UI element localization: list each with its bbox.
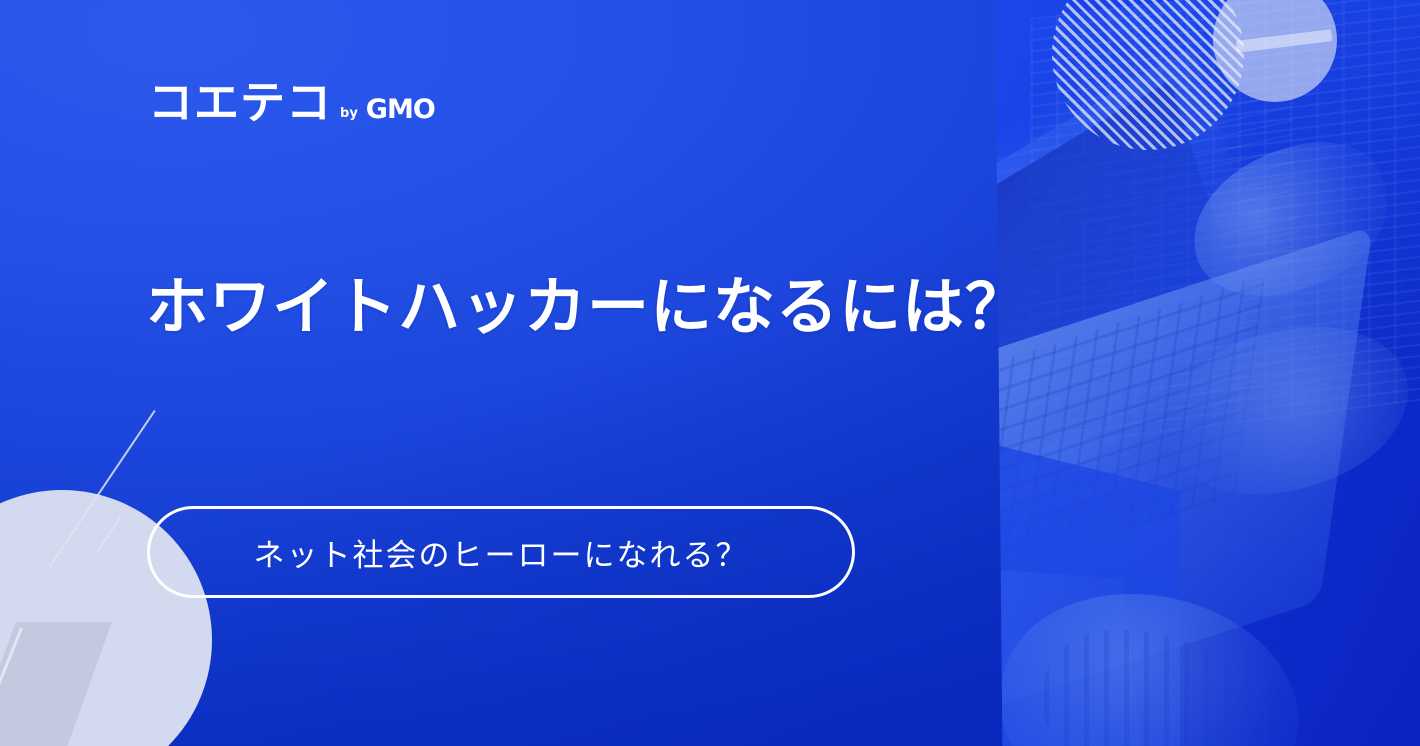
brand-logo[interactable]: コエテコ by GMO [148,80,435,125]
brand-logo-by-label: by [340,106,358,125]
banner-content: コエテコ by GMO ホワイトハッカーになるには？ ネット社会のヒーローになれ… [0,0,1420,746]
subtitle-pill-label: ネット社会のヒーローになれる？ [254,530,749,575]
page-title: ホワイトハッカーになるには？ [146,272,1028,341]
subtitle-pill: ネット社会のヒーローになれる？ [147,506,855,598]
brand-logo-mark: コエテコ [148,80,332,125]
hero-banner: コエテコ by GMO ホワイトハッカーになるには？ ネット社会のヒーローになれ… [0,0,1420,746]
brand-logo-gmo: GMO [366,94,435,125]
